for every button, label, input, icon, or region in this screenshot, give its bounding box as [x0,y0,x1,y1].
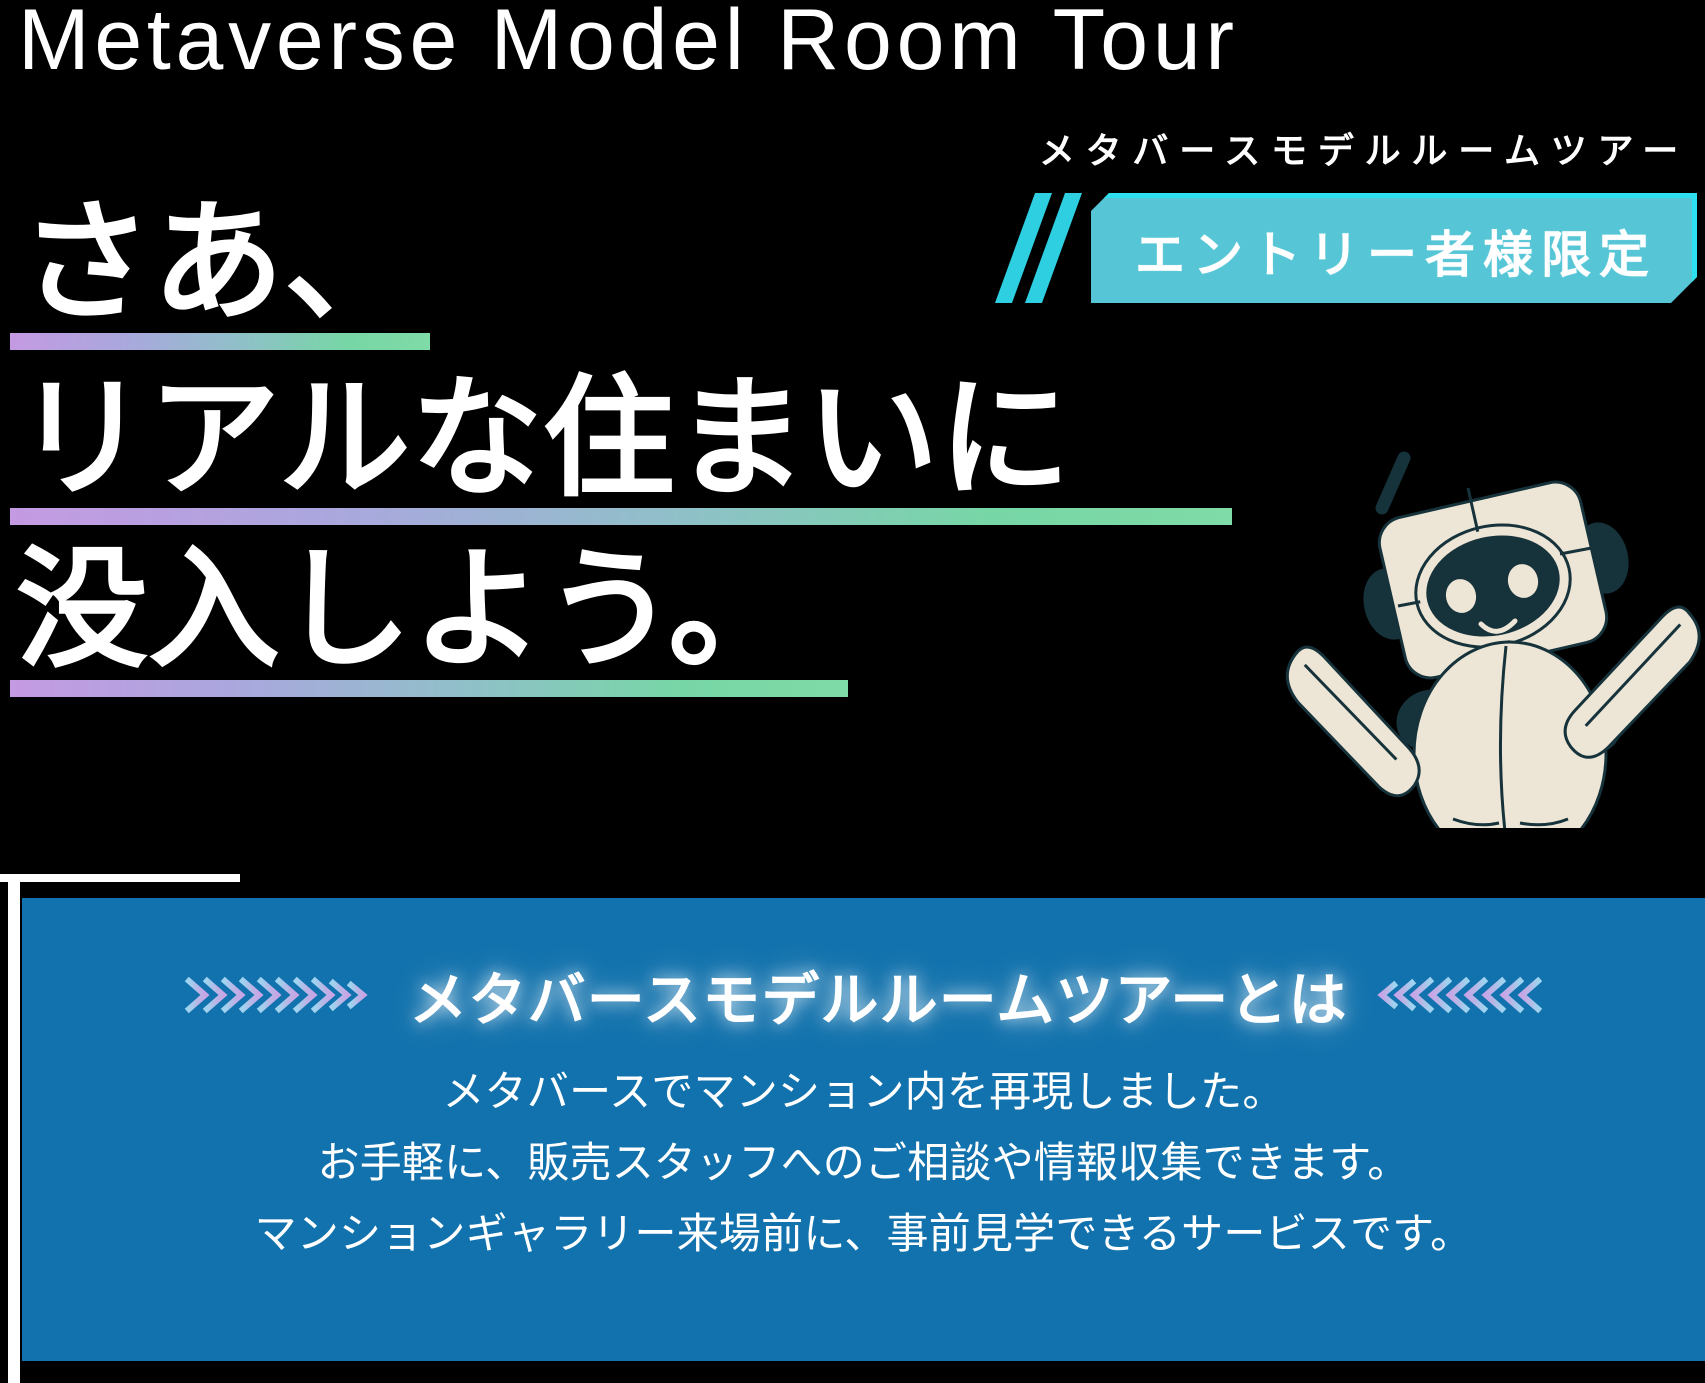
chevrons-right-icon [183,973,383,1017]
headline-row-3: 没入しよう。 [10,543,1232,697]
headline-line-2: リアルな住まいに [16,372,1232,507]
hero-stage: Metaverse Model Room Tour メタバースモデルルームツアー… [0,0,1705,1383]
panel-paragraph-3: マンションギャラリー来場前に、事前見学できるサービスです。 [22,1205,1705,1264]
info-panel-frame: メタバースモデルルームツアーとは [0,874,1705,1383]
kana-subtitle: メタバースモデルルームツアー [1039,122,1689,174]
robot-mascot-icon [1168,436,1704,828]
panel-heading-row: メタバースモデルルームツアーとは [22,952,1705,1038]
chevrons-left-icon [1374,973,1544,1017]
panel-body: メタバースでマンション内を再現しました。 お手軽に、販売スタッフへのご相談や情報… [22,1063,1705,1275]
panel-paragraph-1: メタバースでマンション内を再現しました。 [22,1063,1705,1122]
headline-row-1: さあ、 [10,196,1232,350]
page-title: Metaverse Model Room Tour [18,0,1239,87]
panel-paragraph-2: お手軽に、販売スタッフへのご相談や情報収集できます。 [22,1134,1705,1193]
info-panel: メタバースモデルルームツアーとは [22,898,1705,1361]
panel-top-rule [0,874,240,882]
headline-row-2: リアルな住まいに [10,372,1232,526]
headline-line-3: 没入しよう。 [16,543,1232,678]
panel-heading: メタバースモデルルームツアーとは [409,953,1347,1037]
headline-block: さあ、 リアルな住まいに 没入しよう。 [10,196,1232,697]
panel-left-rule [8,882,20,1383]
headline-line-1: さあ、 [20,196,1232,331]
